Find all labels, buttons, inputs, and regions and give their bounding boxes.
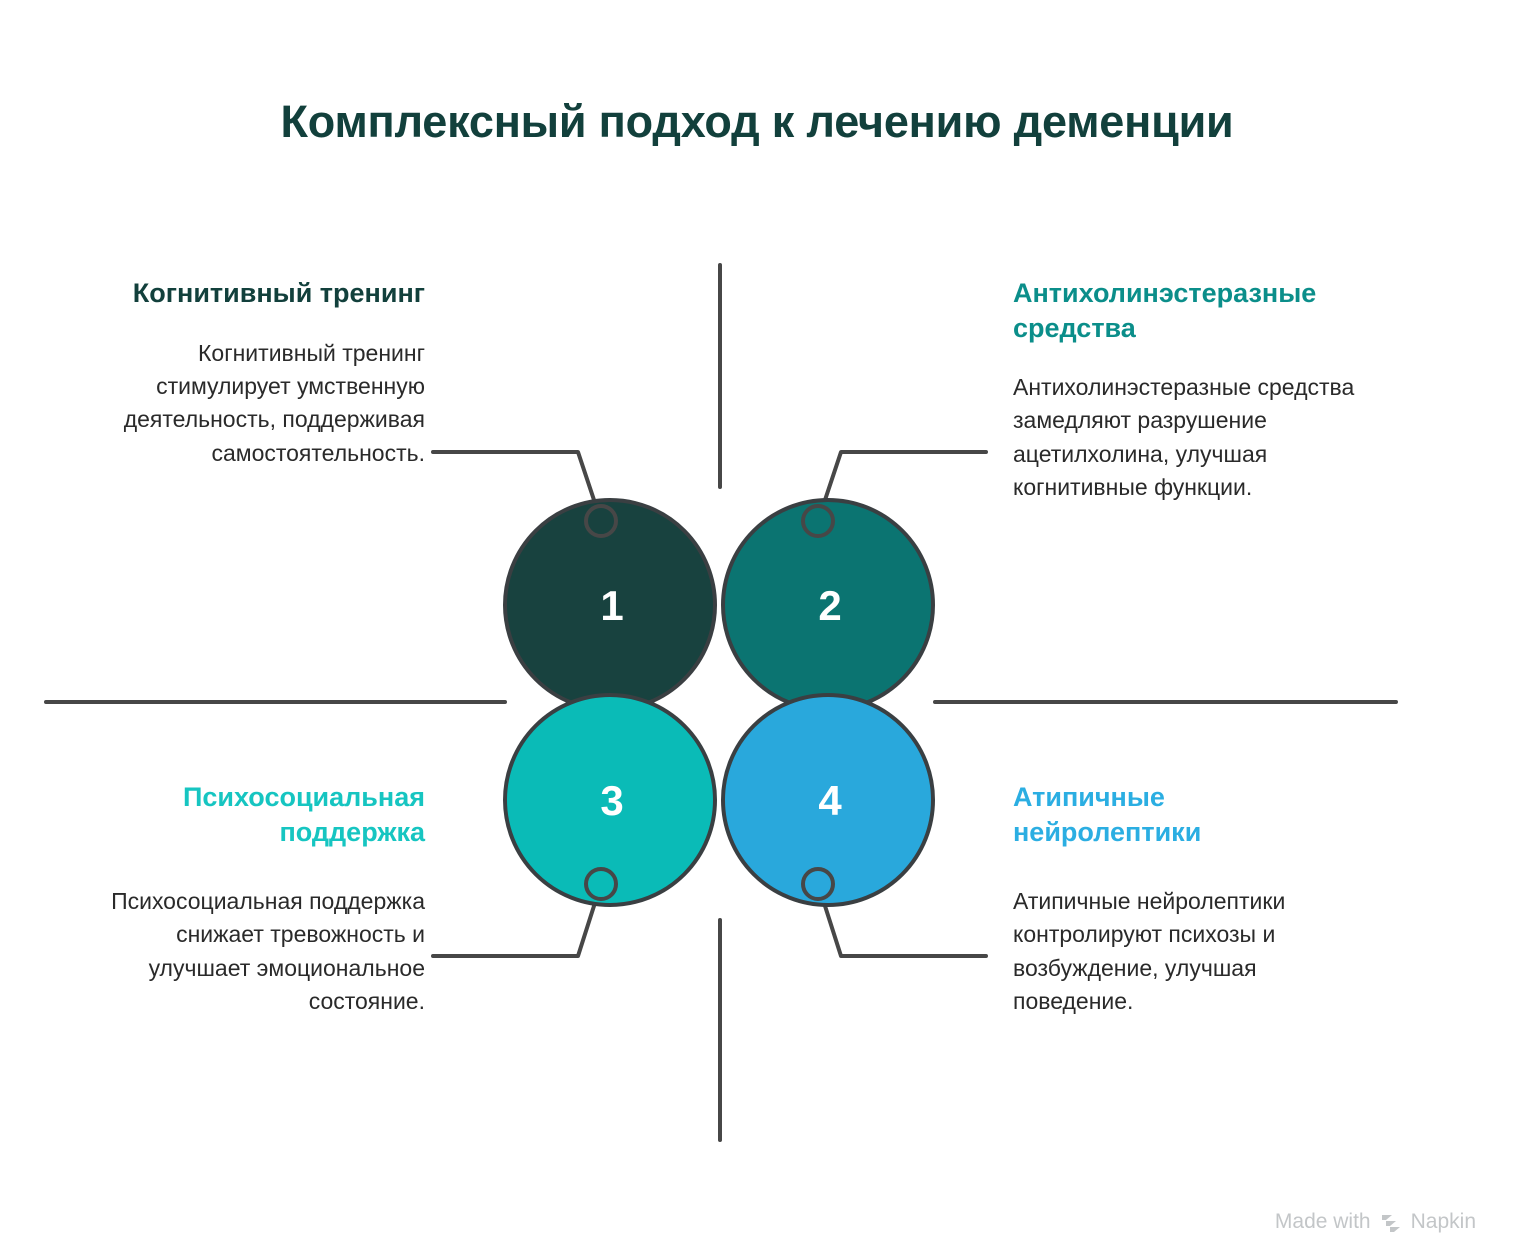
circle-number-3: 3 [600, 777, 623, 824]
infographic-canvas: Комплексный подход к лечению деменции [0, 0, 1514, 1256]
napkin-logo-icon [1380, 1212, 1402, 1232]
circle-group [505, 500, 933, 905]
connector-lines [433, 452, 986, 956]
quadrant-body-1: Когнитивный тренинг стимулирует умственн… [90, 337, 425, 470]
quadrant-body-4: Атипичные нейролептики контролируют псих… [1013, 885, 1358, 1018]
quadrant-heading-1: Когнитивный тренинг [90, 276, 425, 311]
watermark-brand: Napkin [1411, 1210, 1476, 1234]
quadrant-bottom-right: Атипичные нейролептики Атипичные нейроле… [1013, 780, 1358, 1018]
watermark-prefix: Made with [1275, 1210, 1371, 1234]
quadrant-top-left: Когнитивный тренинг Когнитивный тренинг … [90, 276, 425, 470]
quadrant-body-2: Антихолинэстеразные средства замедляют р… [1013, 371, 1358, 504]
quadrant-bottom-left: Психосоциальная поддержка Психосоциальна… [70, 780, 425, 1018]
quadrant-heading-2: Антихолинэстеразные средства [1013, 276, 1358, 345]
circle-number-4: 4 [818, 777, 842, 824]
circle-number-2: 2 [818, 582, 841, 629]
napkin-watermark: Made with Napkin [1275, 1210, 1476, 1234]
quadrant-heading-3: Психосоциальная поддержка [70, 780, 425, 849]
quadrant-heading-4: Атипичные нейролептики [1013, 780, 1358, 849]
quadrant-body-3: Психосоциальная поддержка снижает тревож… [70, 885, 425, 1018]
circle-number-1: 1 [600, 582, 623, 629]
circles-diagram: 1 2 3 4 [0, 0, 1514, 1256]
quadrant-top-right: Антихолинэстеразные средства Антихолинэс… [1013, 276, 1358, 504]
